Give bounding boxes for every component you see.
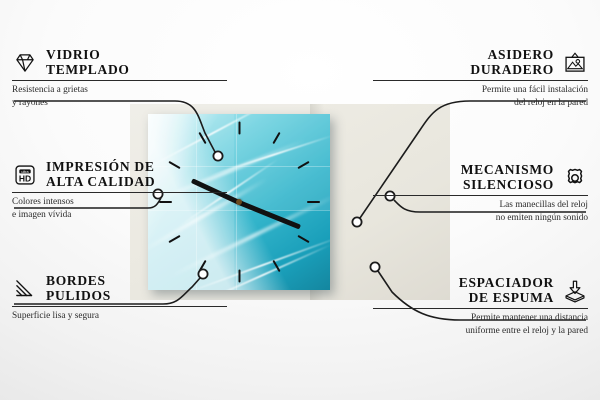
feature-title-line2: SILENCIOSO [461,178,554,193]
feature-divider [12,306,227,307]
feature-title-line1: MECANISMO [461,163,554,178]
polished-edges-icon [12,277,38,301]
feature-description: Las manecillas del reloj no emiten ningú… [373,199,588,225]
feature-title-line2: DURADERO [470,63,554,78]
feature-description: Superficie lisa y segura [12,310,227,323]
feature-title-line2: TEMPLADO [46,63,130,78]
feature-title-line1: BORDES [46,274,111,289]
clock-tick [238,270,240,283]
svg-text:HD: HD [19,173,31,183]
feature-description: Colores intensos e imagen vívida [12,196,227,222]
clock-tick [307,201,320,203]
feature-divider [373,308,588,309]
gear-icon [562,166,588,190]
feature-title-line2: ALTA CALIDAD [46,175,155,190]
diamond-icon [12,51,38,75]
picture-hanger-icon [562,51,588,75]
feature-divider [373,80,588,81]
feature-divider [373,195,588,196]
ultra-hd-badge-icon: ultra HD [12,163,38,187]
clock-tick [238,122,240,135]
infographic-canvas: VIDRIO TEMPLADO Resistencia a grietas y … [0,0,600,400]
clock-center-cap [236,199,242,205]
feature-espaciador-de-espuma: ESPACIADOR DE ESPUMA Permite mantener un… [373,276,588,339]
feature-title-line1: IMPRESIÓN DE [46,160,155,175]
feature-title-line2: DE ESPUMA [459,291,554,306]
feature-divider [12,80,227,81]
feature-mecanismo-silencioso: MECANISMO SILENCIOSO Las manecillas del … [373,163,588,226]
feature-title-line1: VIDRIO [46,48,130,63]
feature-divider [12,192,227,193]
clock-tick [297,235,309,243]
feature-description: Permite una fácil instalación del reloj … [373,84,588,110]
feature-title-line2: PULIDOS [46,289,111,304]
feature-asidero-duradero: ASIDERO DURADERO Permite una fácil insta… [373,48,588,111]
feature-title-line1: ASIDERO [470,48,554,63]
feature-bordes-pulidos: BORDES PULIDOS Superficie lisa y segura [12,274,227,323]
feature-description: Permite mantener una distancia uniforme … [373,312,588,338]
feature-description: Resistencia a grietas y rayones [12,84,227,110]
feature-vidrio-templado: VIDRIO TEMPLADO Resistencia a grietas y … [12,48,227,111]
feature-title-line1: ESPACIADOR [459,276,554,291]
foam-spacer-icon [562,279,588,303]
feature-impresion-alta-calidad: ultra HD IMPRESIÓN DE ALTA CALIDAD Color… [12,160,227,223]
